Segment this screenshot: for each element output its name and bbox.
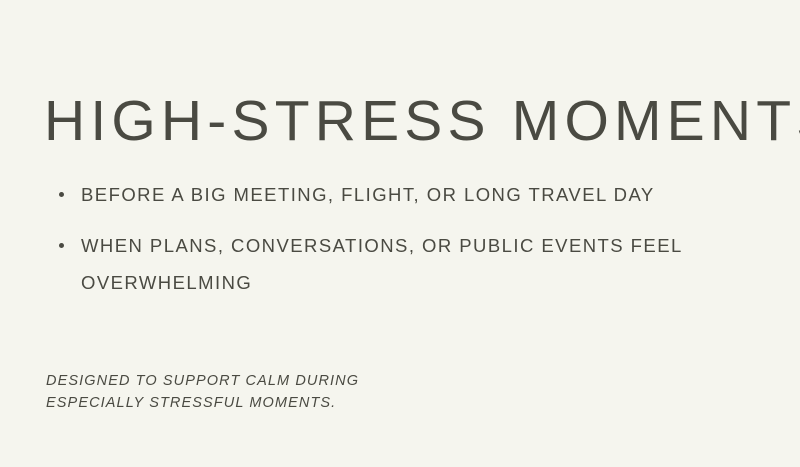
footnote-line-2: ESPECIALLY STRESSFUL MOMENTS. <box>46 392 359 414</box>
bullet-dot-icon <box>59 243 64 248</box>
footnote-line-1: DESIGNED TO SUPPORT CALM DURING <box>46 370 359 392</box>
list-item-label: WHEN PLANS, CONVERSATIONS, OR PUBLIC EVE… <box>81 227 746 301</box>
page-title: HIGH-STRESS MOMENTS <box>44 92 800 150</box>
bullet-dot-icon <box>59 192 64 197</box>
list-item-label: BEFORE A BIG MEETING, FLIGHT, OR LONG TR… <box>81 176 746 213</box>
list-item: WHEN PLANS, CONVERSATIONS, OR PUBLIC EVE… <box>56 227 746 301</box>
footnote: DESIGNED TO SUPPORT CALM DURING ESPECIAL… <box>46 370 359 414</box>
list-item: BEFORE A BIG MEETING, FLIGHT, OR LONG TR… <box>56 176 746 213</box>
slide-canvas: HIGH-STRESS MOMENTS BEFORE A BIG MEETING… <box>0 0 800 467</box>
bullet-list: BEFORE A BIG MEETING, FLIGHT, OR LONG TR… <box>56 176 746 301</box>
